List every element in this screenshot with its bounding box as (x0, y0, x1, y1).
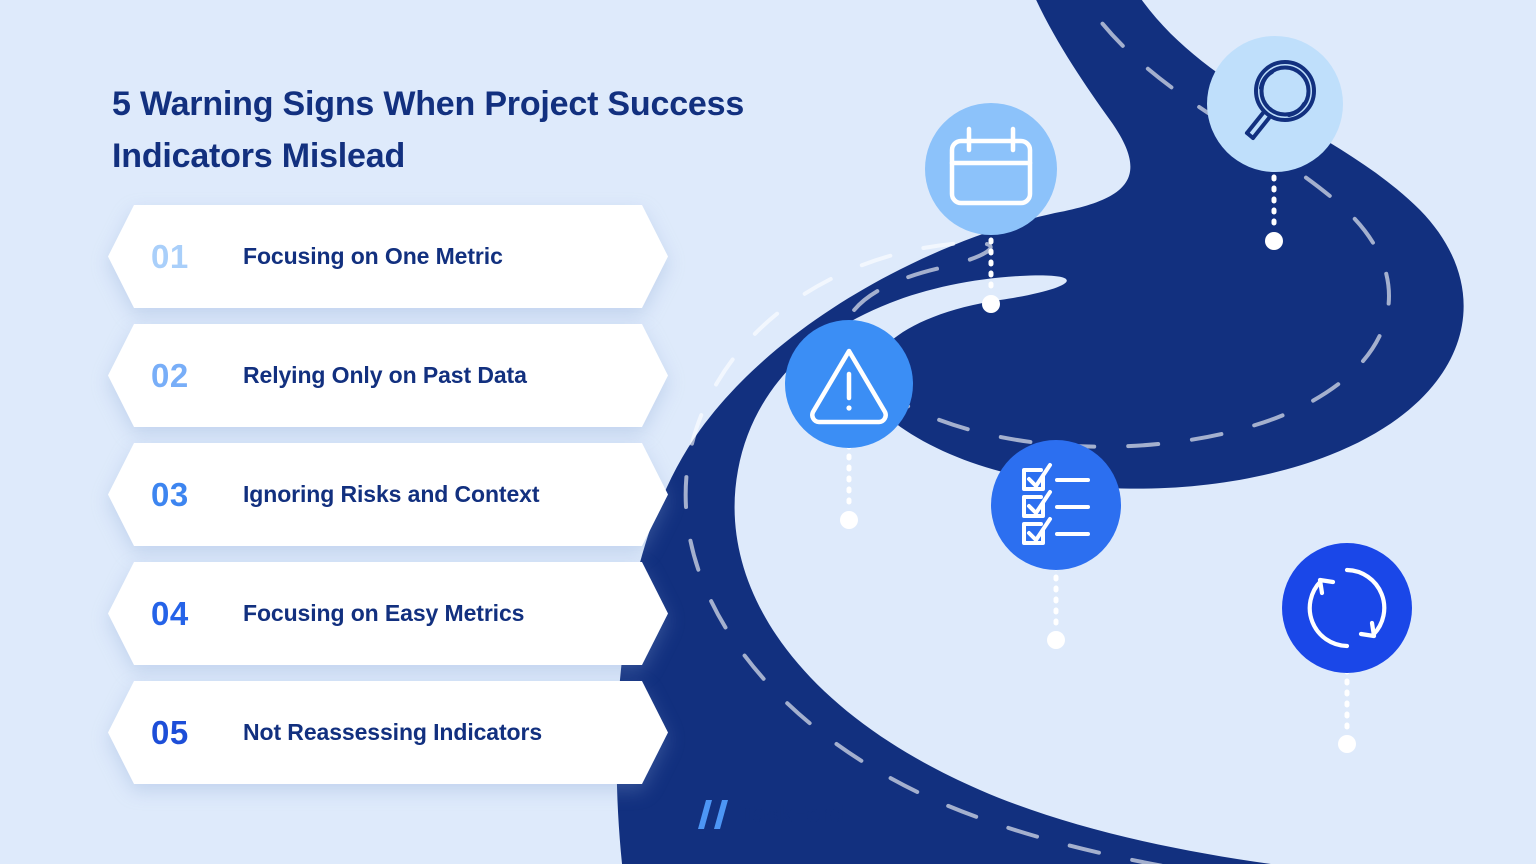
roadmap-marker-calendar[interactable] (925, 103, 1057, 235)
step-label: Focusing on One Metric (243, 243, 503, 270)
step-number: 05 (151, 714, 243, 752)
step-label: Focusing on Easy Metrics (243, 600, 524, 627)
step-number: 04 (151, 595, 243, 633)
step-number: 03 (151, 476, 243, 514)
list-item[interactable]: 04 Focusing on Easy Metrics (108, 562, 668, 665)
list-item[interactable]: 02 Relying Only on Past Data (108, 324, 668, 427)
roadmap-marker-warning[interactable] (785, 320, 913, 448)
marker-leader-warning (840, 445, 858, 529)
brand-name: TaskFord (740, 801, 844, 829)
page-title: 5 Warning Signs When Project Success Ind… (112, 78, 852, 182)
list-item[interactable]: 03 Ignoring Risks and Context (108, 443, 668, 546)
roadmap-marker-checklist[interactable] (991, 440, 1121, 570)
marker-circle-checklist (991, 440, 1121, 570)
marker-circle-magnifier (1207, 36, 1343, 172)
step-label: Relying Only on Past Data (243, 362, 527, 389)
taskford-logo-icon (697, 798, 729, 831)
content-column: 5 Warning Signs When Project Success Ind… (0, 0, 700, 864)
list-item[interactable]: 05 Not Reassessing Indicators (108, 681, 668, 784)
marker-circle-calendar (925, 103, 1057, 235)
marker-leader-refresh (1338, 670, 1356, 753)
page-title-line-1: 5 Warning Signs When Project Success (112, 85, 744, 123)
list-item[interactable]: 01 Focusing on One Metric (108, 205, 668, 308)
step-label: Not Reassessing Indicators (243, 719, 542, 746)
step-number: 02 (151, 357, 243, 395)
roadmap-marker-magnifier[interactable] (1207, 36, 1343, 172)
marker-circle-refresh (1282, 543, 1412, 673)
brand-logo: TaskFord (697, 798, 844, 831)
page-title-line-2: Indicators Mislead (112, 137, 405, 175)
infographic-canvas: 5 Warning Signs When Project Success Ind… (0, 0, 1536, 864)
marker-leader-checklist (1047, 566, 1065, 649)
step-label: Ignoring Risks and Context (243, 481, 539, 508)
steps-list: 01 Focusing on One Metric 02 Relying Onl… (108, 205, 668, 800)
step-number: 01 (151, 238, 243, 276)
roadmap-marker-refresh[interactable] (1282, 543, 1412, 673)
